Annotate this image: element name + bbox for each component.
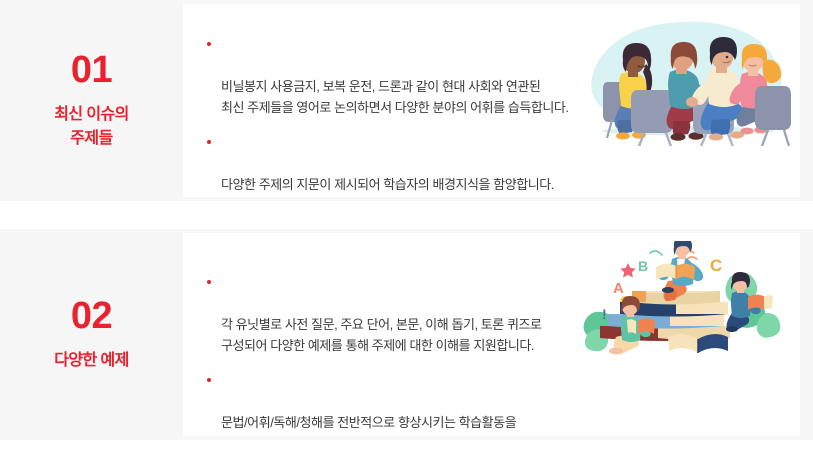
bullet-dot-icon <box>207 140 211 144</box>
bullet-text: 각 유닛별로 사전 질문, 주요 단어, 본문, 이해 돕기, 토론 퀴즈로 구… <box>221 317 542 353</box>
bullet-list-02: 각 유닛별로 사전 질문, 주요 단어, 본문, 이해 돕기, 토론 퀴즈로 구… <box>205 272 605 436</box>
bullet-dot-icon <box>207 280 211 284</box>
bullet-dot-icon <box>207 42 211 46</box>
feature-sections-page: 01 최신 이슈의 주제들 비닐봉지 사용금지, 보복 운전, 드론과 같이 현… <box>0 0 813 460</box>
section-title-02: 다양한 예제 <box>54 349 128 372</box>
bullet-text: 문법/어휘/독해/청해를 전반적으로 향상시키는 학습활동을 제공합니다. <box>221 415 516 436</box>
bullet-item: 다양한 주제의 지문이 제시되어 학습자의 배경지식을 함양합니다. <box>205 132 605 195</box>
bullet-item: 각 유닛별로 사전 질문, 주요 단어, 본문, 이해 돕기, 토론 퀴즈로 구… <box>205 272 605 356</box>
group-discussion-illustration <box>582 16 794 146</box>
section-number-02: 02 <box>71 297 112 335</box>
book-stack-illustration: A B C ? ! <box>580 241 790 361</box>
bullet-text: 비닐봉지 사용금지, 보복 운전, 드론과 같이 현대 사회와 연관된 최신 주… <box>221 79 569 115</box>
floating-question-mark: ? <box>738 276 747 293</box>
bullet-dot-icon <box>207 378 211 382</box>
floating-letter-b: B <box>638 258 648 274</box>
feature-section-02: 02 다양한 예제 각 유닛별로 사전 질문, 주요 단어, 본문, 이해 돕기… <box>0 229 813 440</box>
bullet-list-01: 비닐봉지 사용금지, 보복 운전, 드론과 같이 현대 사회와 연관된 최신 주… <box>205 34 605 195</box>
bullet-item: 비닐봉지 사용금지, 보복 운전, 드론과 같이 현대 사회와 연관된 최신 주… <box>205 34 605 118</box>
feature-card-02: 각 유닛별로 사전 질문, 주요 단어, 본문, 이해 돕기, 토론 퀴즈로 구… <box>183 233 800 436</box>
feature-card-01: 비닐봉지 사용금지, 보복 운전, 드론과 같이 현대 사회와 연관된 최신 주… <box>183 4 800 197</box>
section-title-01: 최신 이슈의 주제들 <box>54 103 128 149</box>
feature-section-01: 01 최신 이슈의 주제들 비닐봉지 사용금지, 보복 운전, 드론과 같이 현… <box>0 0 813 201</box>
bullet-item: 문법/어휘/독해/청해를 전반적으로 향상시키는 학습활동을 제공합니다. <box>205 370 605 436</box>
star-icon <box>620 263 636 278</box>
section-label-column-02: 02 다양한 예제 <box>0 229 183 440</box>
floating-letter-c: C <box>710 256 722 275</box>
bullet-text: 다양한 주제의 지문이 제시되어 학습자의 배경지식을 함양합니다. <box>221 177 554 192</box>
section-label-column-01: 01 최신 이슈의 주제들 <box>0 0 183 201</box>
floating-letter-a: A <box>613 280 624 297</box>
section-number-01: 01 <box>71 51 112 89</box>
